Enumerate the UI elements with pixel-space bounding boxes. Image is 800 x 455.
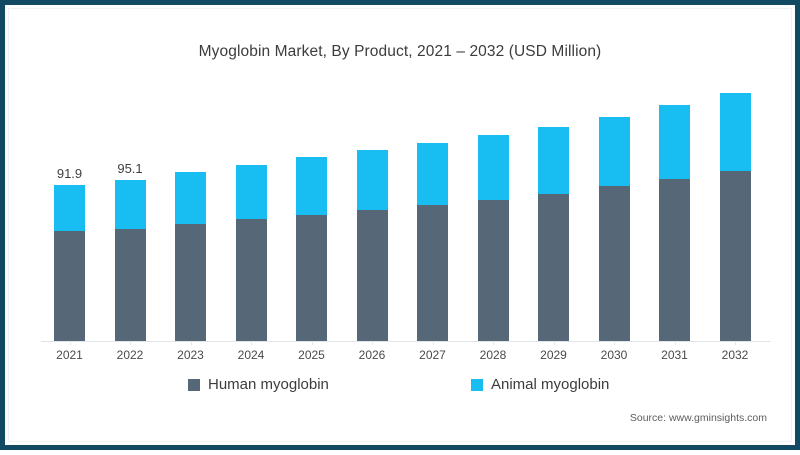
bar-segment-animal bbox=[720, 93, 751, 171]
x-axis-line bbox=[41, 341, 771, 342]
axis-tick bbox=[735, 341, 736, 345]
source-note: Source: www.gminsights.com bbox=[630, 412, 767, 424]
bar-segment-animal bbox=[357, 150, 388, 210]
axis-tick-label-2021: 2021 bbox=[45, 348, 95, 362]
bar-segment-animal bbox=[659, 105, 690, 179]
bar-group bbox=[175, 172, 206, 341]
bar-segment-human bbox=[236, 219, 267, 341]
bar-group: 95.1 bbox=[115, 180, 146, 341]
axis-tick-label-2022: 2022 bbox=[105, 348, 155, 362]
bar-segment-animal bbox=[296, 157, 327, 215]
bar-value-label: 95.1 bbox=[117, 161, 142, 176]
axis-tick bbox=[251, 341, 252, 345]
bar-segment-human bbox=[296, 215, 327, 341]
axis-tick-label-2029: 2029 bbox=[529, 348, 579, 362]
axis-tick bbox=[70, 341, 71, 345]
bar-group bbox=[417, 143, 448, 341]
bar-value-label: 91.9 bbox=[57, 166, 82, 181]
chart-figure: Myoglobin Market, By Product, 2021 – 203… bbox=[0, 0, 800, 450]
bar-segment-human bbox=[599, 186, 630, 341]
axis-tick bbox=[675, 341, 676, 345]
bar-segment-animal bbox=[115, 180, 146, 229]
bar-segment-human bbox=[54, 231, 85, 341]
axis-tick-label-2025: 2025 bbox=[287, 348, 337, 362]
legend-swatch-icon bbox=[188, 379, 200, 391]
bar-segment-animal bbox=[599, 117, 630, 186]
bar-group bbox=[659, 105, 690, 341]
bar-group bbox=[599, 117, 630, 341]
axis-tick-label-2027: 2027 bbox=[408, 348, 458, 362]
axis-tick-label-2024: 2024 bbox=[226, 348, 276, 362]
legend-item-animal-myoglobin[interactable]: Animal myoglobin bbox=[471, 376, 609, 393]
axis-tick-label-2026: 2026 bbox=[347, 348, 397, 362]
bar-group bbox=[296, 157, 327, 341]
bar-group: 91.9 bbox=[54, 185, 85, 341]
bar-group bbox=[236, 165, 267, 341]
bar-segment-animal bbox=[478, 135, 509, 200]
bar-group bbox=[538, 127, 569, 341]
bar-segment-human bbox=[175, 224, 206, 341]
axis-tick-label-2031: 2031 bbox=[650, 348, 700, 362]
axis-tick-label-2028: 2028 bbox=[468, 348, 518, 362]
axis-tick bbox=[614, 341, 615, 345]
axis-tick bbox=[554, 341, 555, 345]
legend-label: Human myoglobin bbox=[208, 376, 329, 393]
legend-item-human-myoglobin[interactable]: Human myoglobin bbox=[188, 376, 329, 393]
axis-tick bbox=[433, 341, 434, 345]
legend-label: Animal myoglobin bbox=[491, 376, 609, 393]
axis-tick-label-2023: 2023 bbox=[166, 348, 216, 362]
bar-group bbox=[357, 150, 388, 341]
bar-segment-human bbox=[115, 229, 146, 341]
bar-segment-animal bbox=[417, 143, 448, 205]
bar-segment-human bbox=[357, 210, 388, 341]
axis-tick bbox=[130, 341, 131, 345]
chart-legend: Human myoglobinAnimal myoglobin bbox=[5, 376, 795, 398]
axis-tick bbox=[312, 341, 313, 345]
axis-tick bbox=[372, 341, 373, 345]
axis-tick bbox=[191, 341, 192, 345]
legend-swatch-icon bbox=[471, 379, 483, 391]
bar-segment-human bbox=[659, 179, 690, 341]
bar-segment-animal bbox=[538, 127, 569, 194]
bar-group bbox=[720, 93, 751, 341]
bar-segment-animal bbox=[175, 172, 206, 224]
bar-segment-human bbox=[478, 200, 509, 341]
bar-segment-human bbox=[720, 171, 751, 341]
bar-segment-animal bbox=[54, 185, 85, 231]
axis-tick-label-2030: 2030 bbox=[589, 348, 639, 362]
axis-tick-label-2032: 2032 bbox=[710, 348, 760, 362]
bar-segment-human bbox=[538, 194, 569, 341]
axis-tick bbox=[493, 341, 494, 345]
bar-segment-human bbox=[417, 205, 448, 341]
bar-segment-animal bbox=[236, 165, 267, 219]
bar-group bbox=[478, 135, 509, 341]
